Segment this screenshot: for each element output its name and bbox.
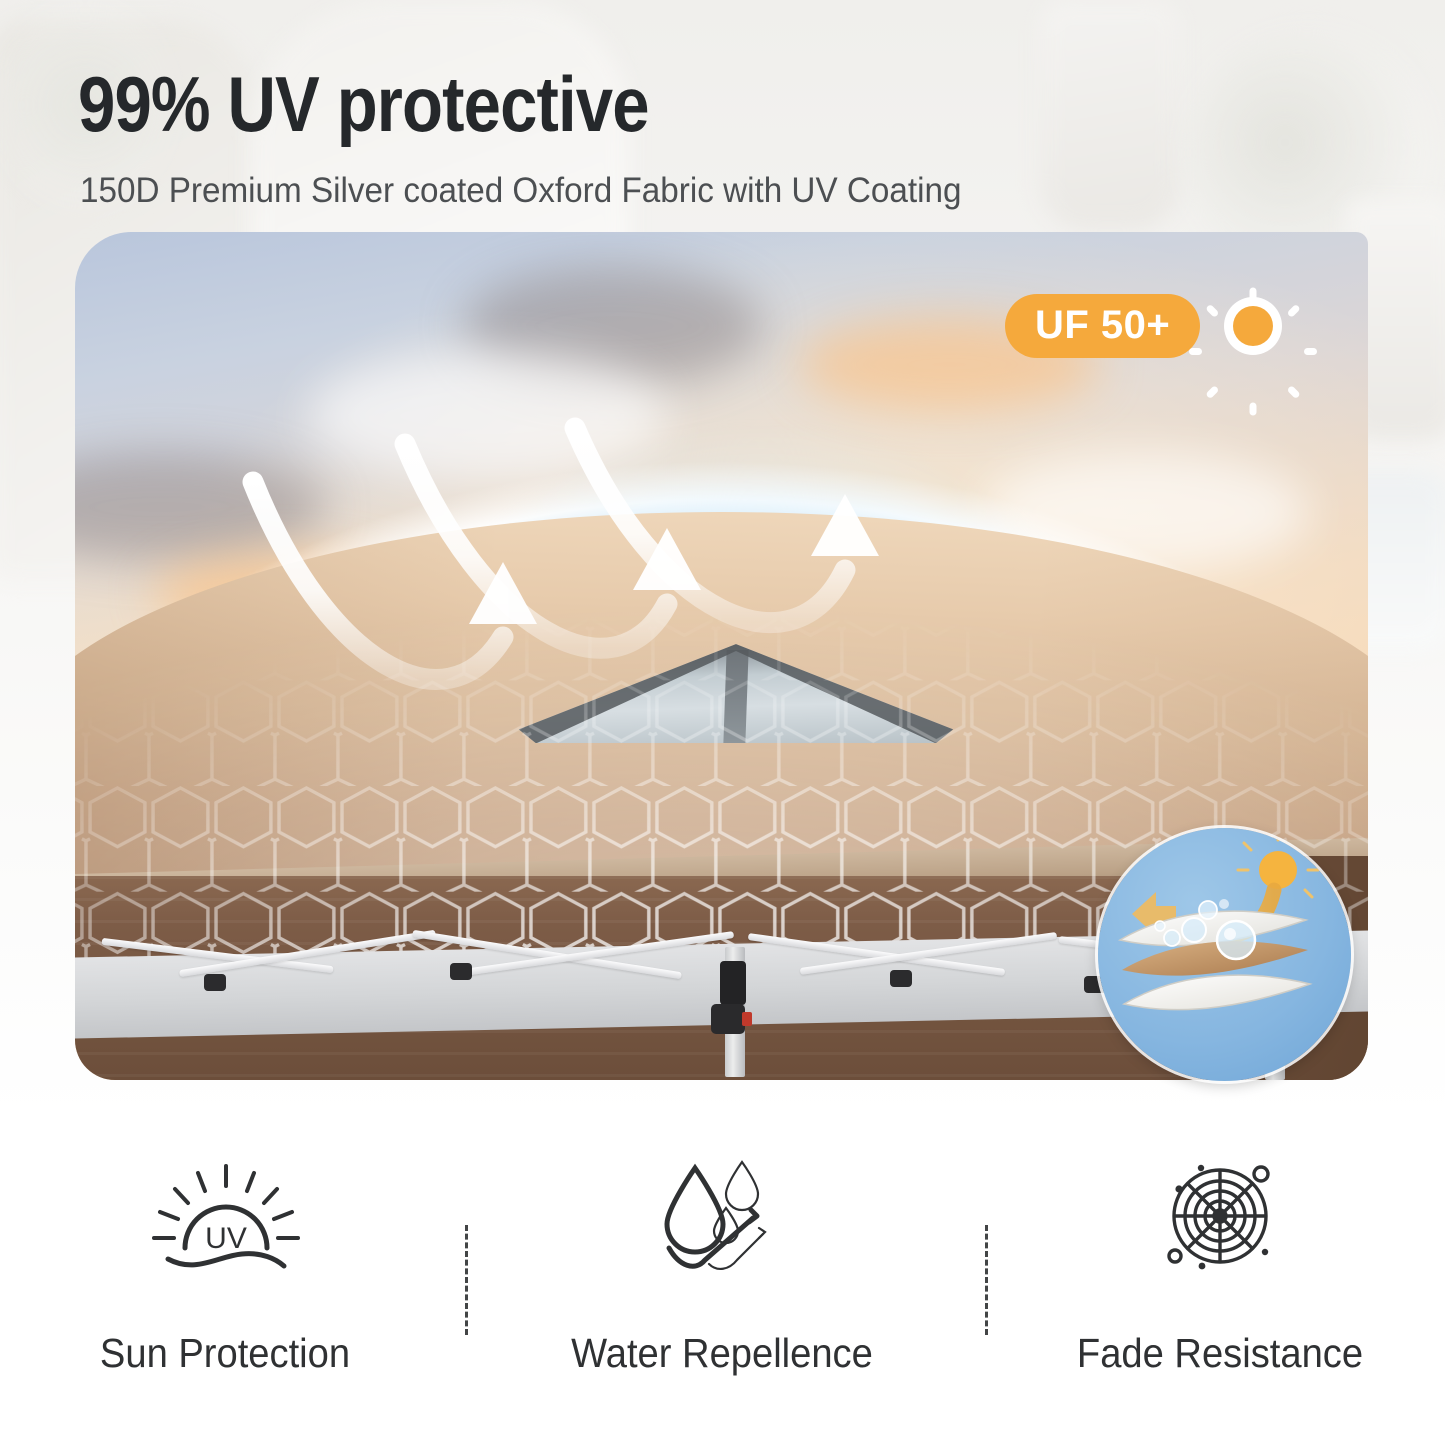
infographic-page: 99% UV protective 150D Premium Silver co…	[0, 0, 1445, 1445]
truss-connector-1	[204, 974, 226, 991]
feature-divider-1	[465, 1225, 468, 1335]
sun-uv-icon: UV	[25, 1150, 425, 1282]
feature-divider-2	[985, 1225, 988, 1335]
feature-label-sun-protection: Sun Protection	[39, 1330, 411, 1377]
water-droplet-icon	[522, 1150, 922, 1282]
truss-connector-2	[450, 963, 472, 980]
fade-resistance-icon	[1020, 1150, 1420, 1282]
uf-badge: UF 50+	[1005, 287, 1292, 365]
feature-label-fade-resistance: Fade Resistance	[1034, 1330, 1406, 1377]
sun-uv-icon-text: UV	[205, 1222, 247, 1255]
page-subtitle: 150D Premium Silver coated Oxford Fabric…	[80, 170, 1220, 212]
feature-water-repellence: Water Repellence	[522, 1150, 922, 1377]
sun-icon	[1214, 287, 1292, 365]
feature-fade-resistance: Fade Resistance	[1020, 1150, 1420, 1377]
pole-collar	[720, 961, 746, 1005]
uf-badge-label: UF 50+	[1005, 294, 1200, 358]
fabric-layers-inset	[1098, 828, 1351, 1081]
sun-icon-core	[1233, 306, 1273, 346]
truss-connector-3	[890, 970, 912, 987]
feature-label-water-repellence: Water Repellence	[536, 1330, 908, 1377]
page-title: 99% UV protective	[78, 62, 1024, 146]
feature-sun-protection: UV Sun Protection	[25, 1150, 425, 1377]
pole-release-button	[742, 1012, 752, 1026]
feature-row: UV Sun Protection	[0, 1150, 1445, 1410]
pole-release-clip	[711, 1004, 745, 1034]
